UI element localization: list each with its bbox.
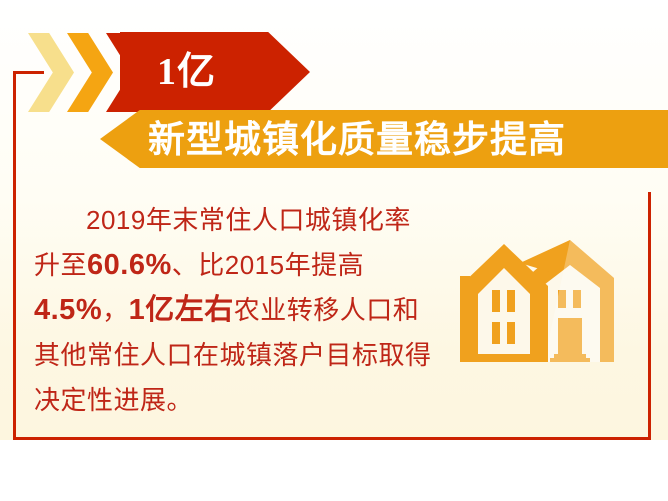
headline-title-banner: 新型城镇化质量稳步提高: [100, 110, 668, 168]
two-houses-icon: [452, 230, 622, 380]
body-segment-3: 4.5%: [34, 294, 102, 326]
body-segment-4: ，: [102, 295, 129, 325]
frame-bottom-edge: [13, 437, 651, 440]
frame-right-edge: [648, 192, 651, 440]
headline-title-label: 新型城镇化质量稳步提高: [148, 121, 566, 158]
headline-badge-label: 1亿: [157, 53, 216, 91]
frame-left-edge: [13, 71, 16, 440]
body-segment-1: 60.6%: [87, 249, 172, 281]
body-paragraph: 2019年末常住人口城镇化率升至60.6%、比2015年提高4.5%，1亿左右农…: [34, 198, 434, 423]
body-segment-2: 、比2015年提高: [172, 250, 364, 280]
infographic-poster: 1亿 新型城镇化质量稳步提高 2019年末常住人口城镇化率升至60.6%、比20…: [0, 0, 668, 501]
body-segment-5: 1亿左右: [129, 294, 234, 326]
